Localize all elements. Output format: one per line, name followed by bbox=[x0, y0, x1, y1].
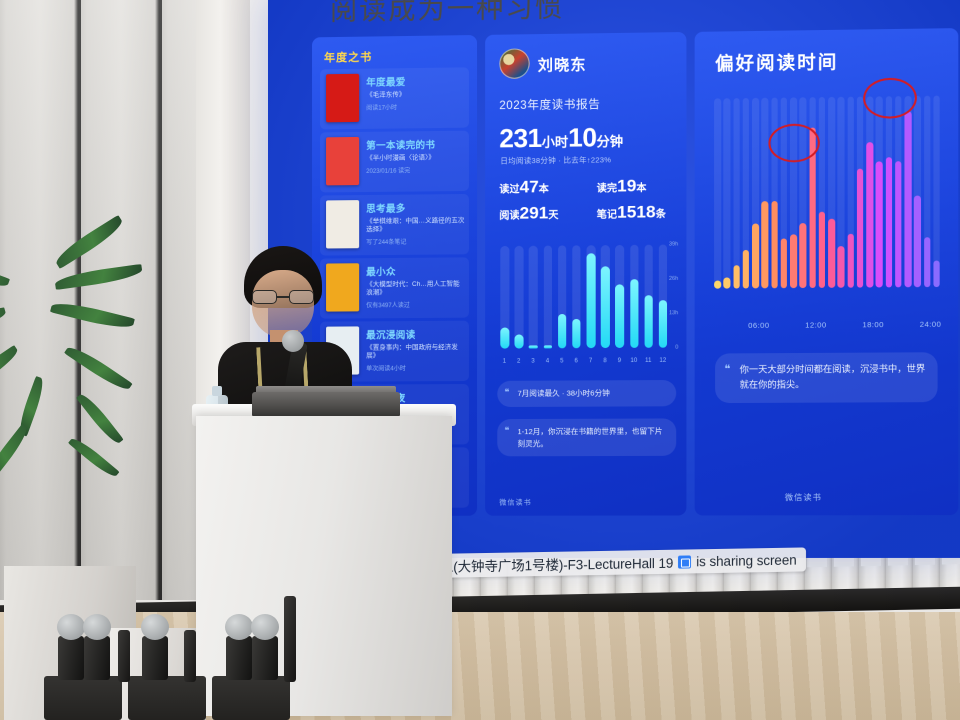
stat-label: 阅读 bbox=[499, 211, 519, 222]
hour-bar bbox=[886, 157, 893, 287]
hour-bar bbox=[857, 169, 864, 287]
slide-heading: 阅读成为一种习惯 bbox=[330, 0, 564, 28]
hour-bar bbox=[866, 142, 873, 287]
book-title: 《大模型时代：Ch…用人工智能浪潮》 bbox=[366, 280, 465, 297]
hour-bar-track bbox=[733, 98, 740, 288]
hour-bar bbox=[800, 223, 807, 288]
month-y-tick: 26h bbox=[669, 276, 678, 282]
stat-unit: 本 bbox=[636, 183, 646, 194]
microphone-head bbox=[282, 330, 304, 352]
hour-bar bbox=[724, 277, 731, 288]
book-title: 《置身事内：中国政府与经济发展》 bbox=[366, 344, 465, 361]
month-tick-label: 8 bbox=[600, 358, 610, 364]
month-tick-label: 12 bbox=[658, 358, 668, 364]
stat-value: 19 bbox=[617, 176, 636, 195]
hour-tick-label: 18:00 bbox=[862, 320, 883, 329]
stat-value: 291 bbox=[520, 203, 549, 222]
hour-bar bbox=[762, 201, 769, 289]
hour-bar bbox=[847, 234, 854, 288]
book-meta: 第一本读完的书《半小时漫画〈论语〉》2023/01/16 读完 bbox=[366, 137, 465, 175]
stat-label: 笔记 bbox=[597, 210, 617, 221]
book-title: 《半小时漫画〈论语〉》 bbox=[366, 154, 465, 163]
month-y-tick: 39h bbox=[669, 241, 678, 247]
user-name: 刘晓东 bbox=[538, 54, 587, 76]
hour-bar bbox=[714, 281, 721, 289]
laptop bbox=[252, 392, 400, 416]
total-hours-value: 231 bbox=[499, 123, 541, 154]
hour-card-quote: 你一天大部分时间都在阅读，沉浸书中，世界就在你的指尖。 bbox=[715, 352, 938, 402]
book-cover bbox=[326, 200, 359, 248]
month-tick-label: 10 bbox=[629, 358, 639, 364]
month-tick-label: 5 bbox=[557, 358, 567, 364]
microphone-dock-group bbox=[44, 596, 294, 720]
hour-tick-label: 12:00 bbox=[805, 320, 826, 329]
share-status-label: is sharing screen bbox=[696, 552, 796, 569]
month-bar bbox=[644, 295, 653, 348]
book-label: 年度最爱 bbox=[366, 73, 465, 88]
book-meta: 最沉浸阅读《置身事内：中国政府与经济发展》单次阅读4小时 bbox=[366, 327, 465, 373]
month-tick-label: 2 bbox=[514, 359, 524, 365]
month-bar-track bbox=[543, 246, 552, 349]
hour-bar bbox=[895, 161, 902, 287]
month-y-tick: 0 bbox=[675, 345, 678, 351]
book-detail: 单次阅读4小时 bbox=[366, 363, 465, 373]
book-detail: 写了244条笔记 bbox=[366, 237, 465, 247]
month-bar bbox=[601, 266, 610, 348]
hour-bar bbox=[914, 195, 921, 287]
card-preferred-reading-time: 偏好阅读时间 06:0012:0018:0024:00 你一天大部分时间都在阅读… bbox=[695, 28, 959, 515]
month-bar bbox=[529, 345, 538, 348]
month-bar bbox=[659, 300, 668, 348]
total-reading-time: 231小时10分钟 bbox=[499, 122, 623, 155]
daily-average-note: 日均阅读38分钟 · 比去年↑223% bbox=[500, 154, 611, 166]
month-tick-label: 3 bbox=[528, 359, 538, 365]
avatar bbox=[499, 48, 529, 79]
total-minutes-unit: 分钟 bbox=[597, 134, 623, 149]
book-detail: 阅读17小时 bbox=[366, 102, 465, 112]
book-list-item: 第一本读完的书《半小时漫画〈论语〉》2023/01/16 读完 bbox=[320, 131, 469, 193]
scene-photo: 阅读成为一种习惯 年度之书 年度最爱《毛泽东传》阅读17小时第一本读完的书《半小… bbox=[0, 0, 960, 720]
book-list: 年度最爱《毛泽东传》阅读17小时第一本读完的书《半小时漫画〈论语〉》2023/0… bbox=[312, 35, 477, 37]
screen-share-icon bbox=[678, 555, 691, 568]
month-y-tick: 13h bbox=[669, 310, 678, 316]
month-tick-label: 6 bbox=[571, 358, 581, 364]
quote-year-summary: 1-12月，你沉浸在书籍的世界里，也留下片刻灵光。 bbox=[497, 418, 676, 456]
book-detail: 仅有3497人读过 bbox=[366, 300, 465, 310]
hour-chart-title: 偏好阅读时间 bbox=[715, 48, 838, 76]
book-meta: 最小众《大模型时代：Ch…用人工智能浪潮》仅有3497人读过 bbox=[366, 263, 465, 309]
month-bar bbox=[500, 328, 509, 349]
hour-bar bbox=[781, 239, 788, 289]
book-title: 《举棋维艰：中国…义路径的五次选择》 bbox=[366, 217, 465, 234]
stat-unit: 本 bbox=[539, 184, 549, 195]
month-bar bbox=[515, 334, 524, 349]
book-label: 第一本读完的书 bbox=[366, 137, 465, 152]
month-bar bbox=[587, 253, 596, 348]
hour-bar bbox=[924, 237, 931, 287]
potted-plant bbox=[0, 236, 200, 636]
hour-tick-label: 24:00 bbox=[920, 320, 942, 329]
hour-bar bbox=[819, 212, 826, 288]
book-title: 《毛泽东传》 bbox=[366, 90, 465, 99]
brand-label: 微信读书 bbox=[499, 498, 531, 508]
books-card-title: 年度之书 bbox=[324, 49, 372, 66]
hour-axis-labels: 06:0012:0018:0024:00 bbox=[713, 320, 942, 336]
stat-label: 读过 bbox=[499, 184, 519, 195]
month-tick-label: 1 bbox=[499, 359, 509, 365]
brand-label: 微信读书 bbox=[785, 492, 822, 503]
book-cover bbox=[326, 137, 359, 185]
hour-bar-track bbox=[933, 96, 940, 288]
card-annual-report: 刘晓东 2023年度读书报告 231小时10分钟 日均阅读38分钟 · 比去年↑… bbox=[485, 32, 686, 516]
month-bar bbox=[615, 285, 624, 348]
book-cover bbox=[326, 74, 359, 123]
total-minutes-value: 10 bbox=[568, 122, 596, 153]
month-tick-label: 9 bbox=[614, 358, 624, 364]
presenter-face bbox=[252, 270, 314, 338]
hour-bar bbox=[905, 111, 912, 287]
book-meta: 年度最爱《毛泽东传》阅读17小时 bbox=[366, 73, 465, 112]
stat-unit: 条 bbox=[656, 209, 666, 220]
hour-bar bbox=[771, 201, 778, 289]
quote-month-peak: 7月阅读最久 · 38小时6分钟 bbox=[497, 380, 676, 407]
book-label: 思考最多 bbox=[366, 200, 465, 215]
month-bar-track bbox=[529, 246, 538, 349]
hour-bar bbox=[790, 235, 797, 288]
month-bar bbox=[558, 314, 567, 348]
stat-value: 1518 bbox=[617, 202, 656, 222]
glasses-icon bbox=[252, 290, 314, 304]
hour-bar bbox=[752, 224, 759, 289]
hour-bar bbox=[743, 250, 750, 288]
monthly-reading-bar-chart: 123456789101112013h26h39h bbox=[499, 240, 672, 364]
stat-label: 读完 bbox=[597, 183, 617, 194]
month-bar bbox=[572, 319, 581, 348]
month-bar bbox=[630, 279, 639, 348]
report-title: 2023年度读书报告 bbox=[499, 96, 600, 113]
hour-bar bbox=[828, 219, 835, 288]
hour-bar bbox=[933, 260, 940, 287]
hour-bar-track bbox=[714, 98, 721, 288]
stat-value: 47 bbox=[520, 177, 539, 196]
month-tick-label: 11 bbox=[643, 358, 653, 364]
hour-bar bbox=[876, 161, 883, 287]
book-label: 最小众 bbox=[366, 263, 465, 278]
month-bar bbox=[543, 345, 552, 348]
stats-grid: 读过47本 读完19本 阅读291天 笔记1518条 bbox=[499, 176, 674, 178]
hour-tick-label: 06:00 bbox=[748, 321, 769, 330]
hourly-reading-bar-chart bbox=[713, 91, 942, 315]
stat-unit: 天 bbox=[548, 210, 558, 221]
book-meta: 思考最多《举棋维艰：中国…义路径的五次选择》写了244条笔记 bbox=[366, 200, 465, 246]
total-hours-unit: 小时 bbox=[542, 135, 568, 150]
hour-bar bbox=[838, 246, 845, 288]
month-tick-label: 4 bbox=[542, 358, 552, 364]
book-detail: 2023/01/16 读完 bbox=[366, 165, 465, 175]
hour-bar-track bbox=[724, 98, 731, 288]
month-bar-track bbox=[515, 246, 524, 349]
hour-bar bbox=[733, 266, 740, 289]
book-list-item: 年度最爱《毛泽东传》阅读17小时 bbox=[320, 67, 469, 129]
book-label: 最沉浸阅读 bbox=[366, 327, 465, 342]
month-tick-label: 7 bbox=[586, 358, 596, 364]
